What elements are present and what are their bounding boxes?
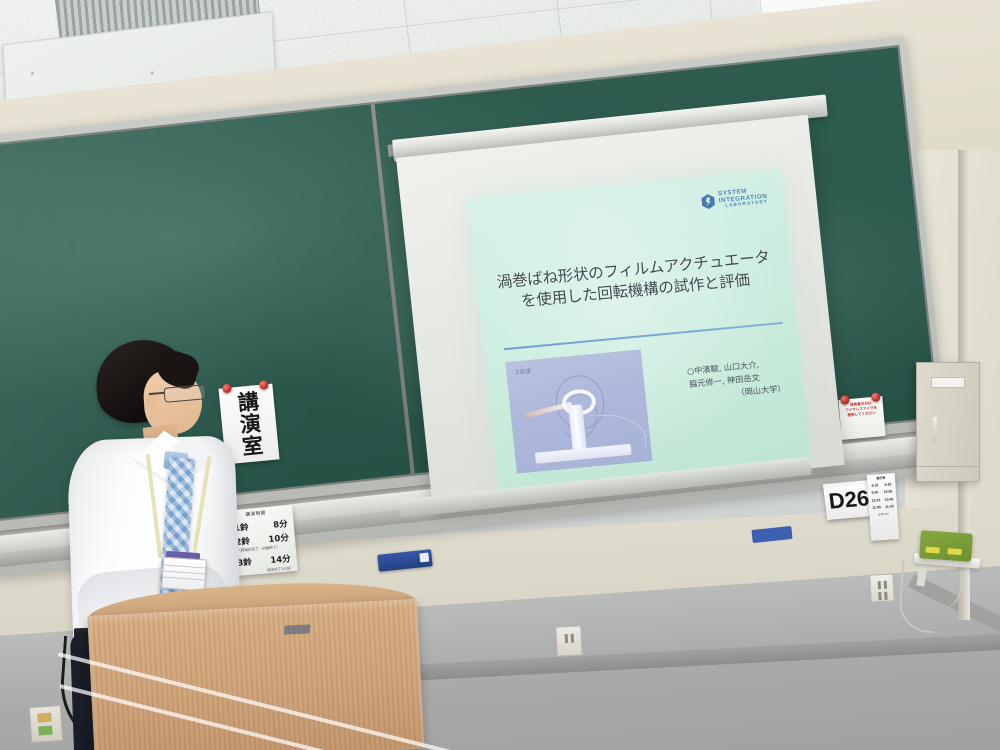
schedule-row: 9:15 9:30: [868, 482, 894, 488]
name-badge: [161, 557, 207, 592]
schedule-end: 10:00: [884, 490, 893, 495]
wall-outlet[interactable]: [869, 573, 894, 602]
cabinet-label: [931, 377, 965, 388]
podium-plaque: [284, 624, 311, 634]
lecture-room-scene: 講演室 講演時間 第1鈴 8分 第2鈴 10分 （質疑応答了・討論終了） 第3鈴…: [0, 0, 1000, 750]
presenter-ear: [146, 392, 159, 410]
schedule-header: 進行表: [868, 475, 894, 481]
schedule-end: 9:30: [884, 483, 891, 487]
schedule-start: 9:15: [871, 483, 878, 487]
wall-outlet[interactable]: [555, 625, 583, 656]
emergency-equipment-box[interactable]: [919, 530, 973, 562]
schedule-row: 9:30 10:00: [869, 490, 895, 496]
schedule-row: 10:15 10:45: [869, 497, 895, 503]
schedule-row: 11:00 11:30: [870, 504, 896, 510]
room-number-text: D26: [827, 485, 870, 514]
schedule-start: 10:15: [872, 498, 881, 503]
schedule-end: 11:30: [885, 504, 894, 509]
hexagon-logo-icon: [701, 193, 716, 209]
bell-value: 14分: [270, 552, 291, 566]
schedule-start: 11:00: [872, 505, 881, 510]
projected-slide: SYSTEM INTEGRATION LABORATORY 渦巻ばね形状のフィル…: [468, 169, 811, 489]
schedule-end: 10:45: [884, 497, 893, 502]
wall-outlet[interactable]: [29, 705, 63, 743]
bell-value: 8分: [273, 517, 288, 530]
schedule-card: 進行表 9:15 9:30 9:30 10:00 10:15 10:45 11:…: [867, 473, 900, 541]
podium-front-panel: [87, 599, 424, 750]
cabinet-seam: [917, 466, 979, 467]
cabinet-handle[interactable]: [933, 417, 937, 443]
slide-media-panel: 2倍速: [505, 349, 652, 473]
schedule-start: 9:30: [871, 491, 878, 495]
bell-value: 10分: [268, 531, 289, 545]
schedule-footer: 会場 D26: [870, 511, 896, 517]
wall-utility-cabinet[interactable]: [916, 362, 980, 482]
red-notice-sign: 発表者の方は ワイヤレスマイクを 使用してください: [838, 396, 885, 440]
podium: [86, 577, 424, 750]
media-speed-label: 2倍速: [515, 367, 532, 376]
